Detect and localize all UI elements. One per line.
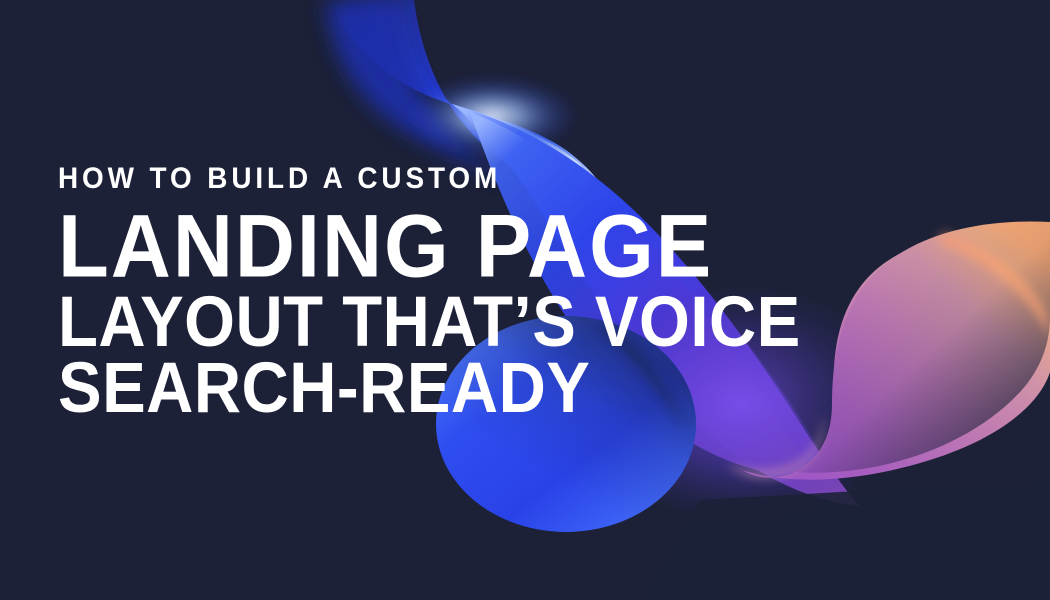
headline-line-1: LANDING PAGE xyxy=(58,208,870,284)
kicker-text: HOW TO BUILD A CUSTOM xyxy=(58,162,821,196)
promo-banner: HOW TO BUILD A CUSTOM LANDING PAGE LAYOU… xyxy=(0,0,1050,600)
headline-line-2: LAYOUT THAT’S VOICE xyxy=(58,290,870,353)
headline-line-3: SEARCH-READY xyxy=(58,356,870,419)
headline-text-block: HOW TO BUILD A CUSTOM LANDING PAGE LAYOU… xyxy=(58,162,878,416)
